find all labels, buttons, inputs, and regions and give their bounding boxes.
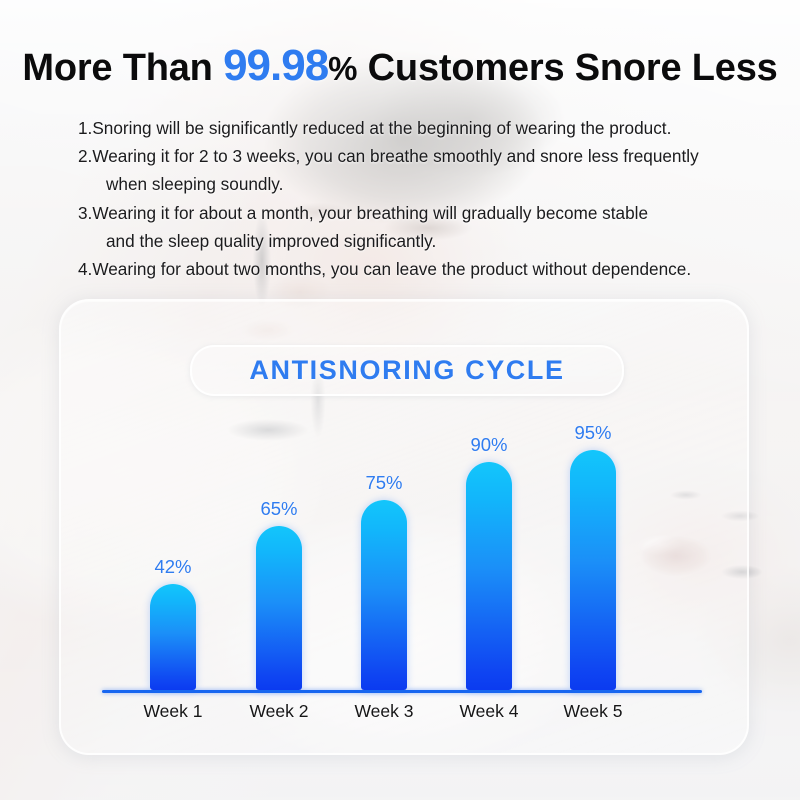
bar-category-week-5: Week 5 (543, 701, 643, 722)
page-title: More Than 99.98% Customers Snore Less (0, 41, 800, 91)
bar-group-week-5: 95% Week 5 (570, 450, 616, 690)
bar-value-week-3: 75% (347, 472, 421, 494)
list-item-continuation: and the sleep quality improved significa… (78, 227, 746, 255)
bar-group-week-3: 75% Week 3 (361, 500, 407, 690)
chart-plot-area: 42% Week 1 65% Week 2 75% Week 3 90% Wee… (102, 401, 702, 693)
bar-week-5 (570, 450, 616, 690)
headline-accent-number: 99.98 (223, 41, 328, 90)
antisnoring-cycle-bar-chart: 42% Week 1 65% Week 2 75% Week 3 90% Wee… (102, 401, 702, 701)
bar-value-week-4: 90% (452, 434, 526, 456)
bar-value-week-2: 65% (242, 498, 316, 520)
headline-percent-sign: % (328, 50, 357, 87)
bar-group-week-4: 90% Week 4 (466, 462, 512, 690)
headline-prefix: More Than (22, 47, 223, 89)
bar-group-week-1: 42% Week 1 (150, 584, 196, 690)
list-item-continuation: when sleeping soundly. (78, 170, 746, 198)
list-item: 3.Wearing it for about a month, your bre… (78, 199, 746, 227)
bar-category-week-4: Week 4 (439, 701, 539, 722)
chart-title-badge: ANTISNORING CYCLE (190, 345, 624, 396)
list-item: 2.Wearing it for 2 to 3 weeks, you can b… (78, 142, 746, 170)
chart-x-axis-line (102, 690, 702, 693)
chart-title-label: ANTISNORING CYCLE (249, 355, 564, 386)
list-item: 1.Snoring will be significantly reduced … (78, 114, 746, 142)
headline-suffix: Customers Snore Less (357, 47, 777, 89)
bar-week-1 (150, 584, 196, 690)
bar-category-week-3: Week 3 (334, 701, 434, 722)
bar-week-4 (466, 462, 512, 690)
list-item: 4.Wearing for about two months, you can … (78, 255, 746, 283)
bar-value-week-5: 95% (556, 422, 630, 444)
chart-glass-panel: ANTISNORING CYCLE 42% Week 1 65% Week 2 … (59, 299, 749, 755)
bar-category-week-2: Week 2 (229, 701, 329, 722)
benefit-list: 1.Snoring will be significantly reduced … (78, 114, 746, 283)
bar-week-3 (361, 500, 407, 690)
bar-week-2 (256, 526, 302, 690)
bar-group-week-2: 65% Week 2 (256, 526, 302, 690)
bar-value-week-1: 42% (136, 556, 210, 578)
bar-category-week-1: Week 1 (123, 701, 223, 722)
